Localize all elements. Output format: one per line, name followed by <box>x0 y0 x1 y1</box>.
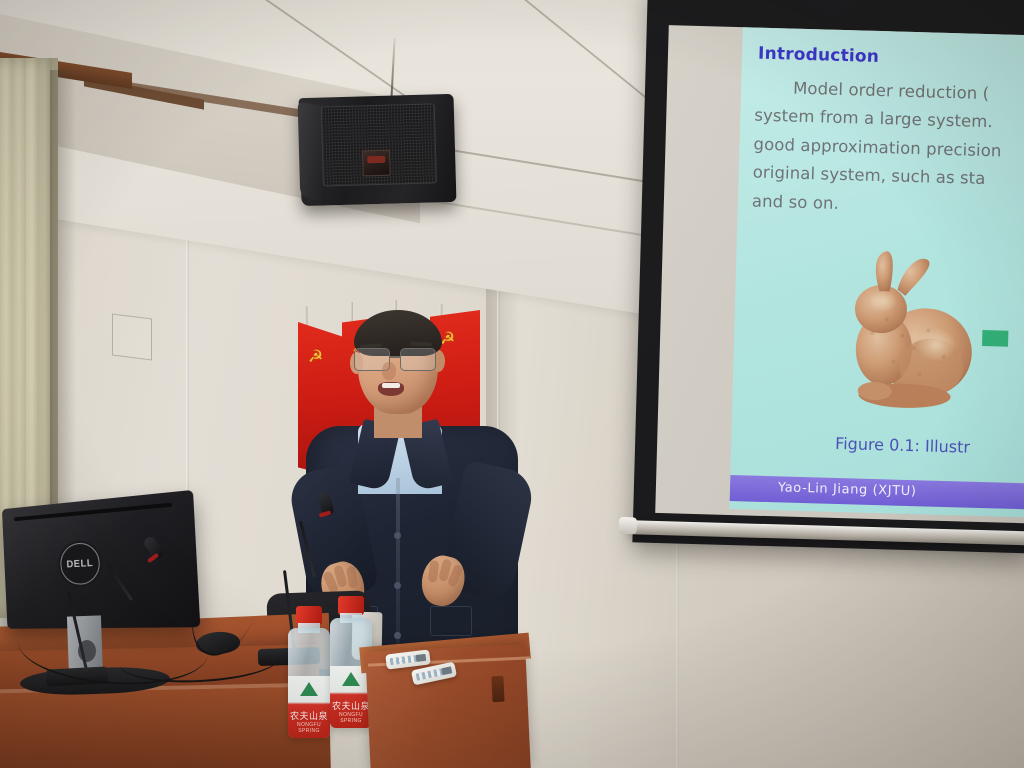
jacket-button <box>394 632 401 639</box>
projection-screen: Introduction Model order reduction ( sys… <box>632 0 1024 557</box>
bottle-brand-en: NONGFU SPRING <box>290 722 328 734</box>
projected-slide: Introduction Model order reduction ( sys… <box>729 27 1024 517</box>
presenter-mouth <box>378 382 404 396</box>
slide-accent-tab <box>982 330 1008 347</box>
presenter-nose <box>382 362 396 380</box>
wall-access-panel <box>112 314 152 361</box>
slide-line: and so on. <box>752 191 840 212</box>
slide-heading: Introduction <box>758 44 880 67</box>
slide-footer-bar: Yao-Lin Jiang (XJTU) <box>730 475 1024 509</box>
jacket-button <box>394 532 401 539</box>
slide-line: good approximation precision <box>753 134 1002 160</box>
monitor-rear-shell: DELL <box>2 490 200 629</box>
figure-caption: Figure 0.1: Illustr <box>835 434 970 457</box>
screen-weight-bar-cap <box>619 517 637 534</box>
eyeglasses-icon <box>354 348 444 370</box>
speaker-badge-icon <box>362 150 391 177</box>
desk-front-panel <box>0 686 331 768</box>
slide-line: original system, such as sta <box>752 163 985 188</box>
bottle-brand-cn: 农夫山泉 <box>332 699 370 712</box>
slide-line: Model order reduction ( <box>793 79 990 103</box>
jacket-button <box>394 582 401 589</box>
bottle-brand-en: NONGFU SPRING <box>332 712 370 724</box>
mountain-icon <box>342 672 360 686</box>
dell-logo-icon: DELL <box>58 539 103 587</box>
monitor-vent <box>14 503 172 522</box>
mountain-icon <box>300 682 318 696</box>
bottle-brand-cn: 农夫山泉 <box>290 709 328 722</box>
bunny-figure <box>838 242 985 418</box>
slide-body-text: Model order reduction ( system from a la… <box>752 74 1024 225</box>
lecture-room-photo: ☭ ☭ ☭ ☭ Introduction Model order reducti… <box>0 0 1024 768</box>
wall-speaker <box>299 94 457 206</box>
slide-line: system from a large system. <box>754 106 993 132</box>
slide-footer-author: Yao-Lin Jiang (XJTU) <box>778 480 917 499</box>
bottle-label: 农夫山泉 NONGFU SPRING <box>288 676 330 738</box>
jacket-pocket <box>430 606 472 636</box>
lectern-latch[interactable] <box>491 676 504 703</box>
water-bottle[interactable]: 农夫山泉 NONGFU SPRING <box>288 606 330 738</box>
